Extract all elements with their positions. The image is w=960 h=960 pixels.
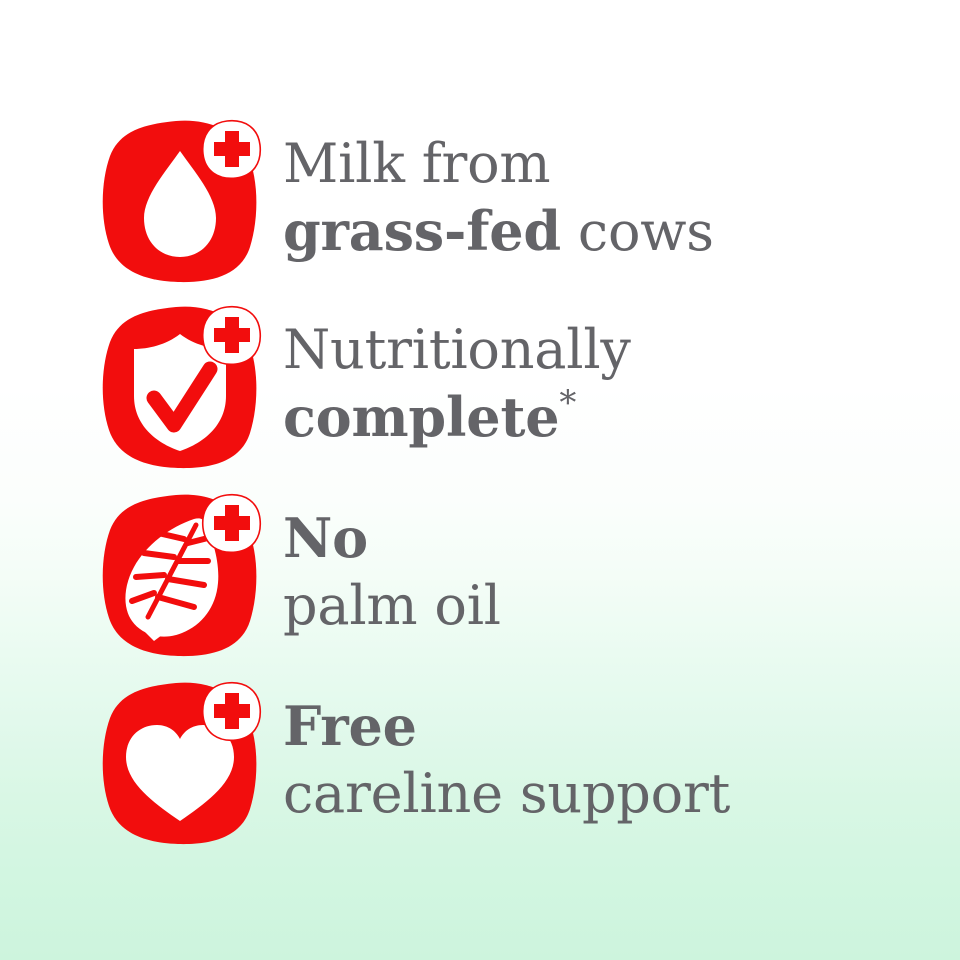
benefit-text-nutrition: Nutritionally complete* bbox=[283, 323, 880, 449]
benefit-line-one: Nutritionally bbox=[283, 323, 880, 377]
plus-badge-icon bbox=[203, 307, 261, 365]
palm-leaf-icon bbox=[100, 489, 260, 659]
benefit-line-two-strong: grass-fed bbox=[283, 199, 561, 263]
benefit-line-two: grass-fed cows bbox=[283, 200, 880, 259]
benefit-line-two: careline support bbox=[283, 762, 880, 821]
benefit-line-one: Milk from bbox=[283, 137, 880, 191]
plus-badge-icon bbox=[203, 121, 261, 179]
benefit-item-milk: Milk from grass-fed cows bbox=[100, 110, 880, 290]
icon-block-droplet bbox=[100, 115, 260, 285]
benefit-item-careline: Free careline support bbox=[100, 672, 880, 852]
benefit-footnote-marker: * bbox=[559, 383, 576, 423]
icon-block-heart bbox=[100, 677, 260, 847]
heart-icon bbox=[100, 677, 260, 847]
benefit-line-two-rest: palm oil bbox=[283, 574, 501, 637]
shield-check-icon bbox=[100, 301, 260, 471]
benefit-line-two-strong: complete bbox=[283, 385, 559, 449]
benefit-list: Milk from grass-fed cows Nutritionally bbox=[0, 0, 960, 960]
benefit-text-milk: Milk from grass-fed cows bbox=[283, 137, 880, 263]
benefit-line-two: palm oil bbox=[283, 574, 880, 633]
icon-block-leaf bbox=[100, 489, 260, 659]
benefit-line-two-rest: cows bbox=[561, 200, 714, 263]
benefit-line-two: complete* bbox=[283, 386, 880, 445]
benefit-item-palm-oil: No palm oil bbox=[100, 484, 880, 664]
benefit-line-one: Free bbox=[283, 699, 880, 753]
droplet-icon bbox=[100, 115, 260, 285]
benefit-line-one: No bbox=[283, 511, 880, 565]
benefit-text-palm-oil: No palm oil bbox=[283, 511, 880, 637]
plus-badge-icon bbox=[203, 495, 261, 553]
icon-block-shield bbox=[100, 301, 260, 471]
plus-badge-icon bbox=[203, 683, 261, 741]
benefits-panel: Milk from grass-fed cows Nutritionally bbox=[0, 0, 960, 960]
benefit-item-nutrition: Nutritionally complete* bbox=[100, 296, 880, 476]
benefit-text-careline: Free careline support bbox=[283, 699, 880, 825]
benefit-line-two-rest: careline support bbox=[283, 762, 730, 825]
